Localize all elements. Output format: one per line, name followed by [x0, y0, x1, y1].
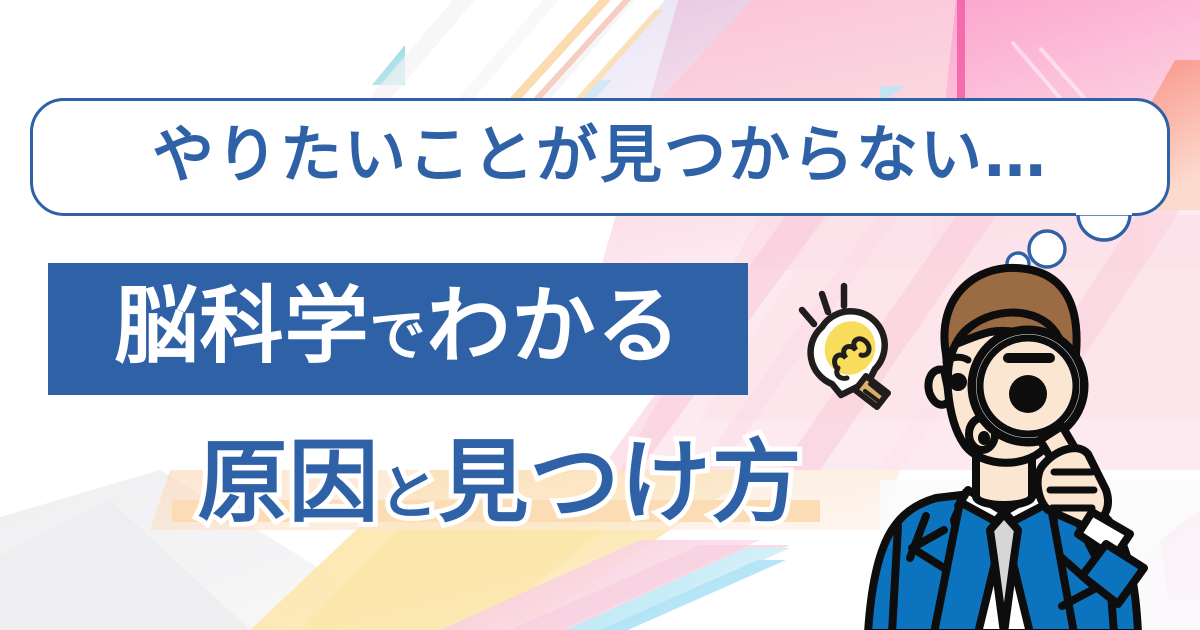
- subtitle-line: 原因と見つけ方: [150, 418, 850, 548]
- subtitle-text-particle: と: [379, 459, 438, 527]
- thumbnail-canvas: やりたいことが見つからない… 脳科学でわかる 原因と見つけ方: [0, 0, 1200, 630]
- subtitle-text-part-b: 見つけ方: [439, 430, 803, 535]
- subtitle-text-part-a: 原因: [197, 430, 379, 535]
- subtitle-text: 原因と見つけ方: [197, 438, 802, 528]
- businessman-with-magnifier-illustration: [848, 258, 1158, 630]
